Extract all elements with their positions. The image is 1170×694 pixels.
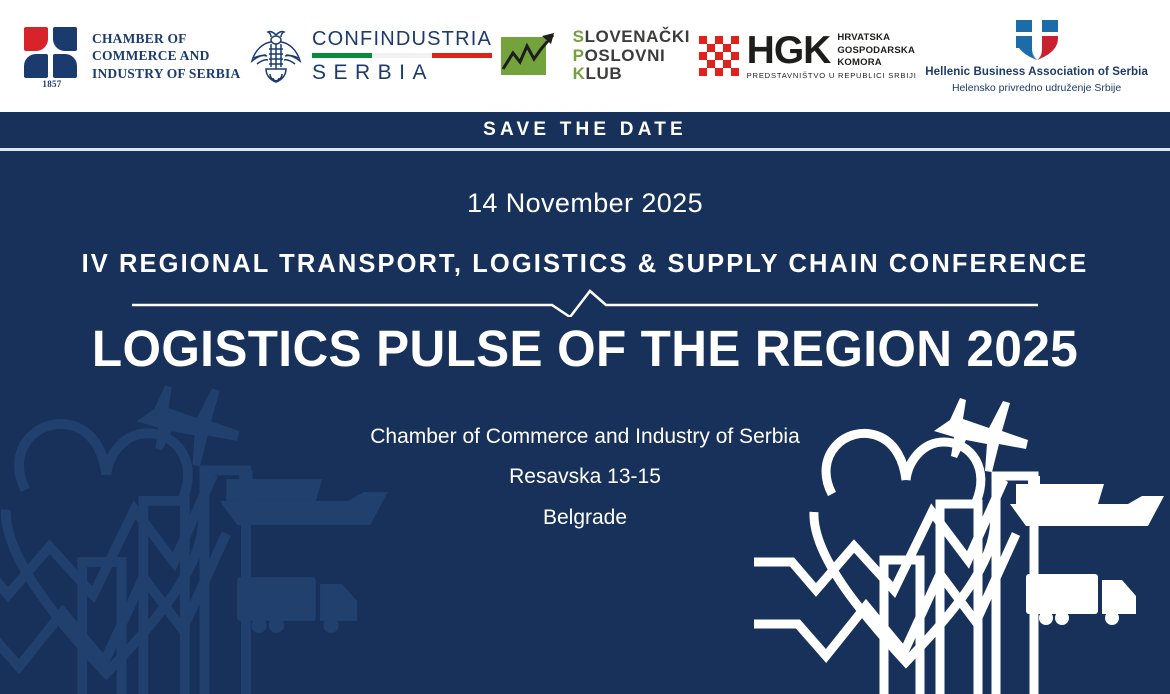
truck-icon [1026,574,1136,625]
ccis-wordmark: CHAMBER OF COMMERCE AND INDUSTRY OF SERB… [92,30,240,81]
event-date: 14 November 2025 [0,188,1170,219]
ccis-founding-year: 1857 [22,79,82,89]
ccis-cross-icon: 1857 [22,23,82,89]
logo-confindustria-serbia: CONFINDUSTRIA SERBIA [249,13,492,99]
event-content: 14 November 2025 IV REGIONAL TRANSPORT, … [0,151,1170,538]
confindustria-eagle-icon [249,27,303,85]
logo-chamber-of-commerce-and-industry-of-serbia: 1857 CHAMBER OF COMMERCE AND INDUSTRY OF… [22,13,240,99]
hgk-sub-line-1: HRVATSKA [837,32,915,44]
spk-line-1: SLOVENAČKI [573,28,690,46]
confindustria-name: CONFINDUSTRIA [312,29,492,49]
logo-hellenic-business-association-of-serbia: Hellenic Business Association of Serbia … [925,13,1148,99]
venue-line-1: Chamber of Commerce and Industry of Serb… [0,417,1170,457]
save-the-date-poster: 1857 CHAMBER OF COMMERCE AND INDUSTRY OF… [0,0,1170,694]
venue-line-3: Belgrade [0,498,1170,538]
croatian-checkerboard-icon [699,36,739,76]
hgk-acronym: HGK [747,33,831,68]
ccis-line-1: CHAMBER OF [92,30,240,47]
spk-line-3: KLUB [573,65,690,83]
hgk-sub-line-3: KOMORA [837,57,915,69]
pulse-divider [132,287,1038,317]
spk-wordmark: SLOVENAČKI POSLOVNI KLUB [573,28,690,83]
partner-logo-bar: 1857 CHAMBER OF COMMERCE AND INDUSTRY OF… [0,0,1170,112]
conference-subtitle: IV REGIONAL TRANSPORT, LOGISTICS & SUPPL… [0,250,1170,279]
venue-line-2: Resavska 13-15 [0,457,1170,497]
italian-flag-bars-icon [312,53,492,58]
venue-block: Chamber of Commerce and Industry of Serb… [0,417,1170,538]
save-the-date-banner: SAVE THE DATE [0,112,1170,148]
spk-growth-chart-icon [501,29,563,83]
hba-title-sr: Helensko privredno udruženje Srbije [952,82,1121,94]
logo-slovenacki-poslovni-klub: SLOVENAČKI POSLOVNI KLUB [501,13,690,99]
hellenic-shield-icon [1014,18,1060,62]
event-title: LOGISTICS PULSE OF THE REGION 2025 [18,319,1153,378]
hgk-full-name: HRVATSKA GOSPODARSKA KOMORA [837,32,915,68]
hgk-wordmark: HGK HRVATSKA GOSPODARSKA KOMORA PREDSTAV… [747,32,917,79]
logo-hgk: HGK HRVATSKA GOSPODARSKA KOMORA PREDSTAV… [699,13,917,99]
hgk-representation-note: PREDSTAVNIŠTVO U REPUBLICI SRBIJI [747,72,917,80]
confindustria-wordmark: CONFINDUSTRIA SERBIA [312,29,492,83]
hba-title-en: Hellenic Business Association of Serbia [925,66,1148,78]
ccis-line-3: INDUSTRY OF SERBIA [92,65,240,82]
hgk-sub-line-2: GOSPODARSKA [837,45,915,57]
confindustria-country: SERBIA [312,62,492,83]
save-the-date-text: SAVE THE DATE [483,119,687,141]
spk-line-2: POSLOVNI [573,47,690,65]
poster-body: SAVE THE DATE [0,112,1170,694]
ccis-line-2: COMMERCE AND [92,47,240,64]
